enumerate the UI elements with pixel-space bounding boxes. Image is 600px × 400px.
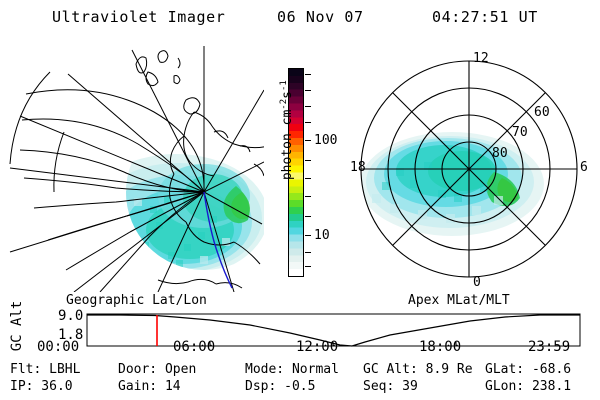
status-seq: Seq: 39 [363,379,418,394]
status-ip: IP: 36.0 [10,379,73,394]
status-panel: Flt: LBHL IP: 36.0 Door: Open Gain: 14 M… [0,362,600,398]
timeline-xtick-0: 00:00 [37,340,79,354]
gc-alt-timeline[interactable]: GC Alt 9.0 1.8 00:00 06:00 12:00 18:00 2… [0,306,600,358]
mlat-label-60: 60 [534,105,550,120]
geographic-plot-svg [8,46,264,292]
mlt-label-6: 6 [580,160,588,175]
mlat-label-70: 70 [512,125,528,140]
colorbar-minor-tick [305,266,311,267]
timeline-xtick-4: 23:59 [528,340,570,354]
colorbar-label-10: 10 [314,229,330,242]
colorbar-minor-tick [305,90,311,91]
colorbar-unit-exp2: -1 [279,80,289,91]
status-door: Door: Open [118,362,196,377]
colorbar-minor-tick [305,216,311,217]
colorbar-minor-tick [305,122,311,123]
colorbar-axis-label: photon cm-2s-1 [279,55,295,205]
colorbar-unit-mid: s [280,91,295,99]
colorbar-minor-tick [305,160,311,161]
status-glon: GLon: 238.1 [485,379,571,394]
mlat-label-80: 80 [492,146,508,161]
status-dsp: Dsp: -0.5 [245,379,315,394]
observation-date: 06 Nov 07 [277,8,364,26]
status-gc-alt: GC Alt: 8.9 Re [363,362,473,377]
colorbar-unit-main: photon cm [280,110,295,180]
colorbar-tick-10 [305,235,311,236]
apex-mlat-mlt-plot[interactable]: 12 18 6 0 60 70 80 [344,44,594,294]
timeline-xtick-2: 12:00 [296,340,338,354]
colorbar-minor-tick [305,178,311,179]
status-mode: Mode: Normal [245,362,339,377]
geographic-plot[interactable] [8,46,264,292]
status-filter: Flt: LBHL [10,362,80,377]
colorbar-minor-tick [305,252,311,253]
colorbar-unit-exp1: -2 [279,99,289,110]
aurora-emission-left [84,154,264,278]
timeline-xtick-3: 18:00 [419,340,461,354]
timeline-xtick-1: 06:00 [173,340,215,354]
colorbar-label-100: 100 [314,134,337,147]
status-glat: GLat: -68.6 [485,362,571,377]
observation-time: 04:27:51 UT [432,8,538,26]
header-bar: Ultraviolet Imager 06 Nov 07 04:27:51 UT [0,8,600,32]
colorbar-minor-tick [305,106,311,107]
colorbar-minor-tick [305,196,311,197]
page-title: Ultraviolet Imager [52,8,225,26]
colorbar-tick-100 [305,140,311,141]
mlt-label-18: 18 [350,160,366,175]
colorbar: photon cm-2s-1 100 10 [270,60,350,292]
status-gain: Gain: 14 [118,379,181,394]
mlt-label-0: 0 [473,275,481,290]
mlt-spokes [361,61,577,277]
mlat-mlt-svg: 12 18 6 0 60 70 80 [344,44,594,294]
mlt-label-12: 12 [473,51,489,66]
colorbar-minor-tick [305,74,311,75]
